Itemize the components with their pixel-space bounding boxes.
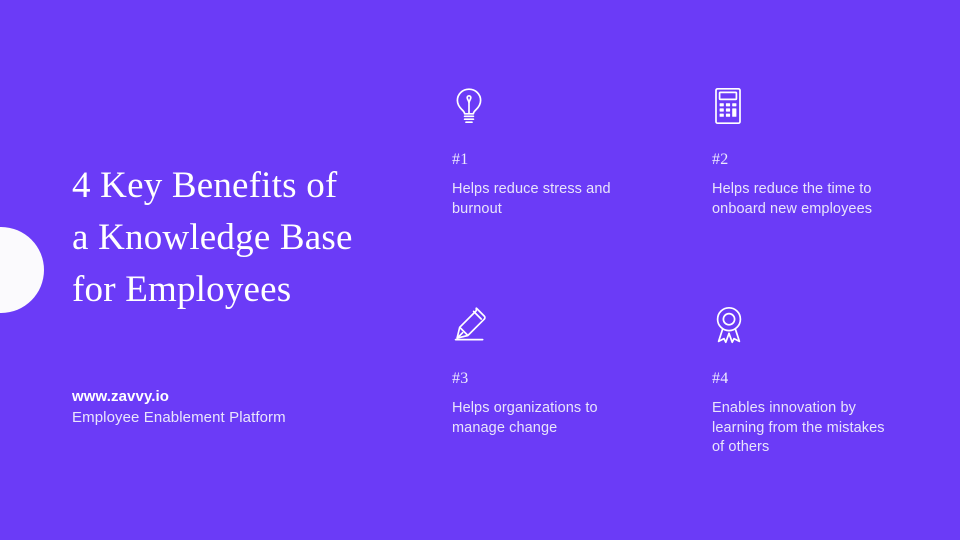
benefit-card-3: #3 Helps organizations to manage change: [452, 305, 712, 458]
benefit-text: Helps reduce stress and burnout: [452, 180, 642, 219]
benefits-grid: #1 Helps reduce stress and burnout: [452, 86, 922, 458]
benefit-number: #3: [452, 370, 712, 388]
page-title: 4 Key Benefits of a Knowledge Base for E…: [72, 160, 402, 316]
benefit-text: Helps organizations to manage change: [452, 399, 642, 438]
brand-url[interactable]: www.zavvy.io: [72, 386, 402, 407]
brand-block: www.zavvy.io Employee Enablement Platfor…: [72, 386, 402, 428]
benefit-card-4: #4 Enables innovation by learning from t…: [712, 305, 922, 458]
slide-canvas: 4 Key Benefits of a Knowledge Base for E…: [0, 0, 960, 540]
decorative-half-circle: [0, 227, 44, 313]
benefit-text: Enables innovation by learning from the …: [712, 399, 894, 458]
brand-tagline: Employee Enablement Platform: [72, 407, 402, 428]
benefit-number: #1: [452, 151, 712, 169]
benefit-card-2: #2 Helps reduce the time to onboard new …: [712, 86, 922, 305]
benefit-number: #4: [712, 370, 922, 388]
benefit-number: #2: [712, 151, 922, 169]
benefit-card-1: #1 Helps reduce stress and burnout: [452, 86, 712, 305]
award-ribbon-icon: [712, 305, 922, 345]
benefit-text: Helps reduce the time to onboard new emp…: [712, 180, 894, 219]
calculator-icon: [712, 86, 922, 126]
lightbulb-icon: [452, 86, 712, 126]
headline-block: 4 Key Benefits of a Knowledge Base for E…: [72, 160, 402, 316]
pen-icon: [452, 305, 712, 345]
